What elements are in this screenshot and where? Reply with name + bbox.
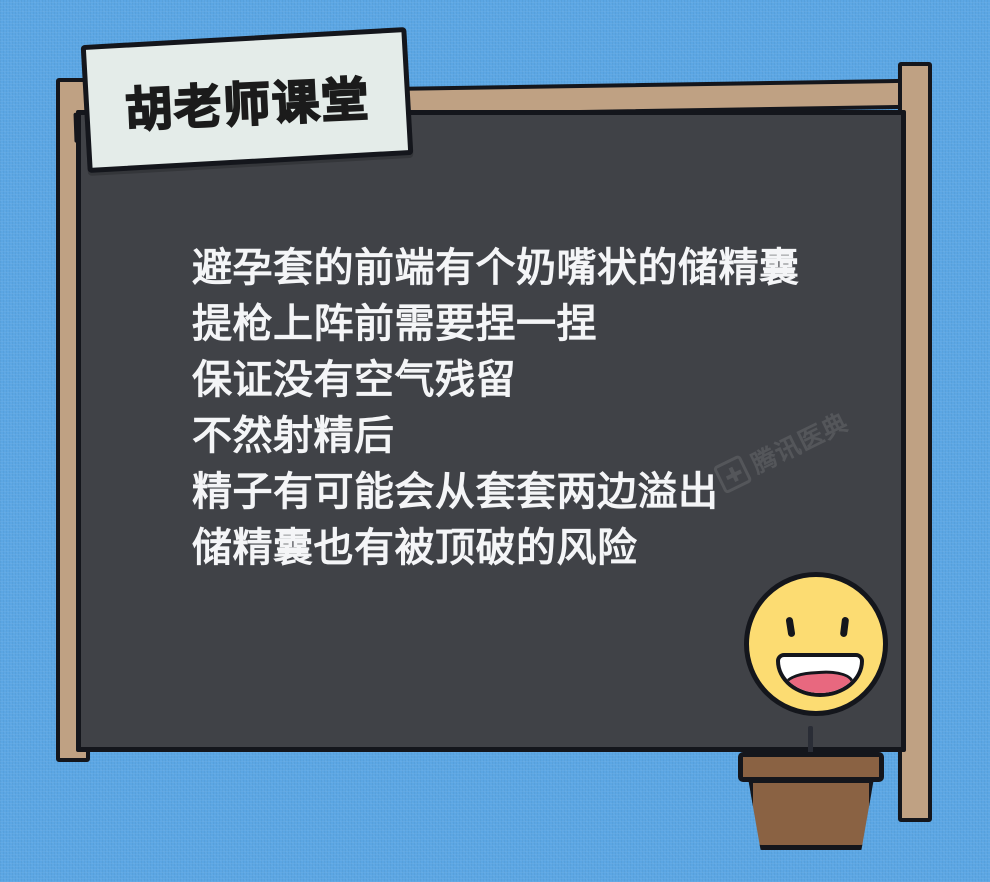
sunflower-eye-right xyxy=(840,617,849,638)
flower-pot xyxy=(738,752,884,850)
chalkboard-line: 不然射精后 xyxy=(192,408,832,464)
flower-pot-rim xyxy=(738,752,884,782)
sunflower-face xyxy=(744,572,888,716)
title-sign: 胡老师课堂 xyxy=(81,27,414,173)
sunflower xyxy=(714,542,918,746)
sunflower-mouth xyxy=(776,653,864,697)
chalkboard-text-block: 避孕套的前端有个奶嘴状的储精囊 提枪上阵前需要捏一捏 保证没有空气残留 不然射精… xyxy=(192,240,832,576)
illustration-canvas: 腾讯医典 避孕套的前端有个奶嘴状的储精囊 提枪上阵前需要捏一捏 保证没有空气残留… xyxy=(0,0,990,882)
chalkboard-line: 精子有可能会从套套两边溢出 xyxy=(192,464,832,520)
sunflower-eye-left xyxy=(785,617,795,638)
flower-pot-body xyxy=(748,778,874,850)
chalkboard-line: 保证没有空气残留 xyxy=(192,352,832,408)
sunflower-tongue xyxy=(783,669,855,697)
title-text: 胡老师课堂 xyxy=(123,60,371,140)
chalkboard-line: 避孕套的前端有个奶嘴状的储精囊 xyxy=(192,240,832,296)
chalkboard-line: 提枪上阵前需要捏一捏 xyxy=(192,296,832,352)
